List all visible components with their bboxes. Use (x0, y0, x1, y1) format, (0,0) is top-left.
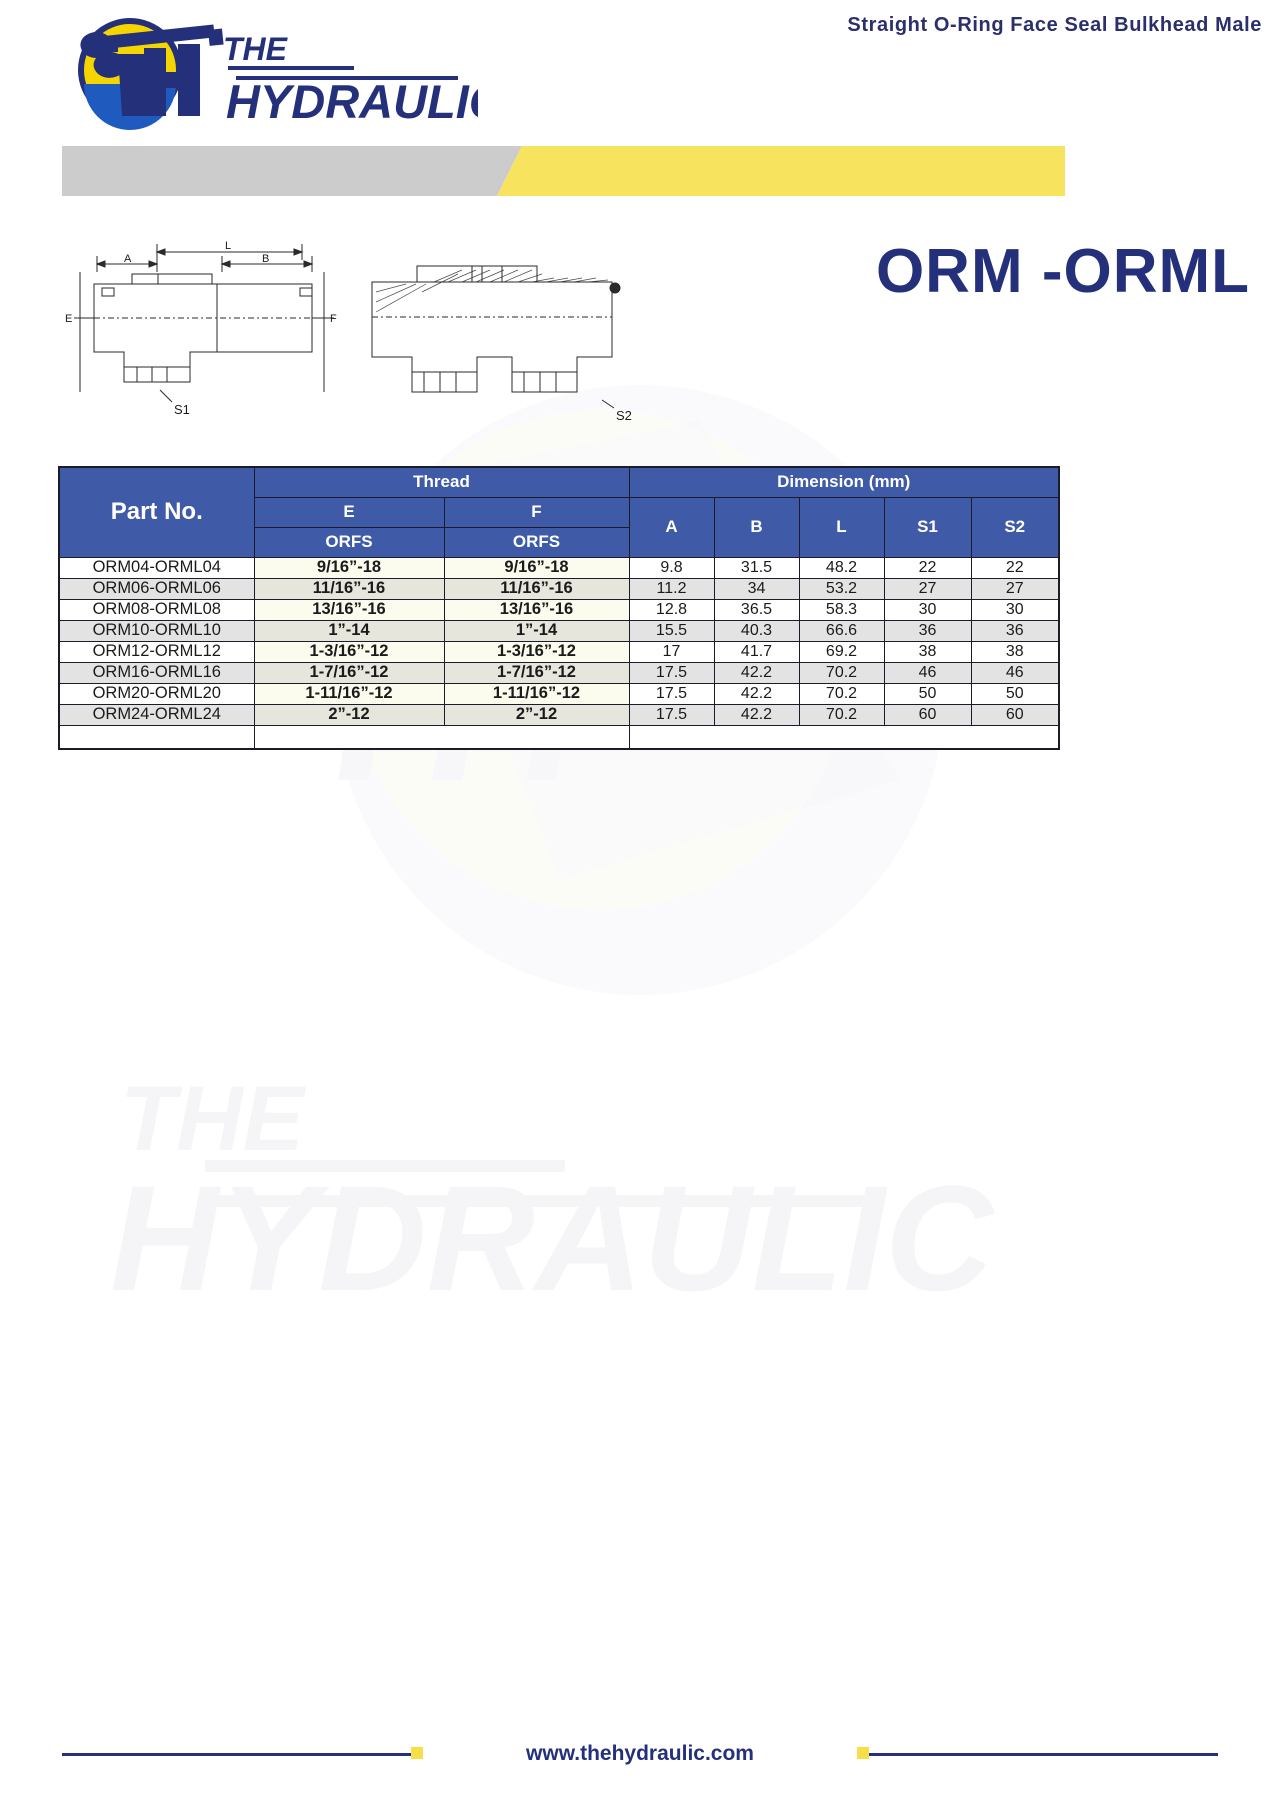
cell-part-no: ORM08-ORML08 (59, 599, 254, 620)
footer-square-left-icon (411, 1747, 423, 1759)
technical-drawings: A L B E F S1 S2 (62, 222, 662, 432)
cell-thread-e: 1-3/16”-12 (254, 641, 444, 662)
cell-dim-a: 9.8 (629, 557, 714, 578)
cell-dim-s1: 30 (884, 599, 971, 620)
cell-dim-l: 48.2 (799, 557, 884, 578)
brand-logo: THE HYDRAULIC (58, 14, 478, 132)
footer-square-right-icon (857, 1747, 869, 1759)
header-thread-f-standard: ORFS (444, 527, 629, 557)
cell-part-no: ORM12-ORML12 (59, 641, 254, 662)
cell-thread-e: 9/16”-18 (254, 557, 444, 578)
cell-dim-a: 17 (629, 641, 714, 662)
cell-dim-s1: 38 (884, 641, 971, 662)
cell-dim-a: 17.5 (629, 704, 714, 725)
cell-thread-e: 1-11/16”-12 (254, 683, 444, 704)
cell-dim-s2: 50 (971, 683, 1059, 704)
table-row: ORM16-ORML161-7/16”-121-7/16”-1217.542.2… (59, 662, 1059, 683)
product-code: ORM -ORML (876, 236, 1250, 307)
footer-website-url[interactable]: www.thehydraulic.com (512, 1742, 768, 1766)
drawing-label-s1: S1 (174, 402, 190, 417)
cell-dim-l: 70.2 (799, 704, 884, 725)
cell-dim-s1: 46 (884, 662, 971, 683)
cell-thread-f: 2”-12 (444, 704, 629, 725)
drawing-label-e: E (65, 313, 72, 325)
cell-dim-s2: 38 (971, 641, 1059, 662)
cell-dim-l: 70.2 (799, 683, 884, 704)
cell-part-no: ORM24-ORML24 (59, 704, 254, 725)
svg-text:THE: THE (120, 1068, 307, 1170)
cell-part-no: ORM16-ORML16 (59, 662, 254, 683)
cell-dim-l: 58.3 (799, 599, 884, 620)
header-dim-a: A (629, 497, 714, 557)
header-thread-e-standard: ORFS (254, 527, 444, 557)
cell-dim-a: 15.5 (629, 620, 714, 641)
cell-dim-l: 53.2 (799, 578, 884, 599)
cell-dim-s1: 36 (884, 620, 971, 641)
header-dim-s1: S1 (884, 497, 971, 557)
cell-dim-l: 69.2 (799, 641, 884, 662)
cell-dim-b: 41.7 (714, 641, 799, 662)
cell-dim-b: 42.2 (714, 704, 799, 725)
cell-dim-s1: 50 (884, 683, 971, 704)
header-thread-f: F (444, 497, 629, 527)
cell-dim-s1: 27 (884, 578, 971, 599)
table-row: ORM10-ORML101”-141”-1415.540.366.63636 (59, 620, 1059, 641)
cell-dim-s1: 22 (884, 557, 971, 578)
cell-thread-e: 2”-12 (254, 704, 444, 725)
svg-text:HYDRAULIC: HYDRAULIC (110, 1154, 996, 1322)
cell-dim-a: 11.2 (629, 578, 714, 599)
cell-thread-f: 9/16”-18 (444, 557, 629, 578)
drawing-label-a: A (124, 253, 132, 265)
table-row: ORM06-ORML0611/16”-1611/16”-1611.23453.2… (59, 578, 1059, 599)
header-dimension-group: Dimension (mm) (629, 467, 1059, 497)
cell-thread-f: 1”-14 (444, 620, 629, 641)
cell-thread-e: 1”-14 (254, 620, 444, 641)
cell-dim-b: 42.2 (714, 683, 799, 704)
table-row: ORM12-ORML121-3/16”-121-3/16”-121741.769… (59, 641, 1059, 662)
header-dim-s2: S2 (971, 497, 1059, 557)
cell-thread-e: 13/16”-16 (254, 599, 444, 620)
header-band (62, 146, 1065, 196)
drawing-label-f: F (330, 313, 337, 325)
cell-dim-s2: 30 (971, 599, 1059, 620)
cell-part-no: ORM10-ORML10 (59, 620, 254, 641)
cell-thread-e: 1-7/16”-12 (254, 662, 444, 683)
cell-dim-s2: 60 (971, 704, 1059, 725)
header-dim-l: L (799, 497, 884, 557)
cell-dim-b: 31.5 (714, 557, 799, 578)
cell-dim-b: 40.3 (714, 620, 799, 641)
cell-part-no: ORM20-ORML20 (59, 683, 254, 704)
footer-rule-left (62, 1753, 417, 1756)
cell-thread-f: 1-7/16”-12 (444, 662, 629, 683)
spacer-cell (629, 725, 1059, 749)
logo-text-the: THE (223, 31, 289, 67)
header-part-no: Part No. (59, 467, 254, 557)
cell-dim-a: 17.5 (629, 662, 714, 683)
logo-text-hydraulic: HYDRAULIC (226, 75, 478, 128)
cell-thread-f: 1-3/16”-12 (444, 641, 629, 662)
header-dim-b: B (714, 497, 799, 557)
cell-dim-s2: 27 (971, 578, 1059, 599)
cell-dim-b: 36.5 (714, 599, 799, 620)
cell-dim-a: 17.5 (629, 683, 714, 704)
cell-dim-b: 34 (714, 578, 799, 599)
spacer-cell (254, 725, 629, 749)
page-title: Straight O-Ring Face Seal Bulkhead Male (847, 0, 1262, 50)
table-spacer-row (59, 725, 1059, 749)
footer-rule-right (863, 1753, 1218, 1756)
table-row: ORM24-ORML242”-122”-1217.542.270.26060 (59, 704, 1059, 725)
footer: www.thehydraulic.com (0, 1734, 1280, 1774)
drawing-label-l: L (225, 240, 231, 252)
cell-thread-f: 11/16”-16 (444, 578, 629, 599)
band-gray (62, 146, 522, 196)
drawing-label-b: B (262, 253, 269, 265)
cell-dim-s1: 60 (884, 704, 971, 725)
drawing-label-s2: S2 (616, 408, 632, 423)
cell-dim-b: 42.2 (714, 662, 799, 683)
cell-part-no: ORM06-ORML06 (59, 578, 254, 599)
table-row: ORM20-ORML201-11/16”-121-11/16”-1217.542… (59, 683, 1059, 704)
specification-table: Part No. Thread Dimension (mm) E F A B L… (58, 466, 1058, 750)
spacer-cell (59, 725, 254, 749)
table-row: ORM08-ORML0813/16”-1613/16”-1612.836.558… (59, 599, 1059, 620)
cell-part-no: ORM04-ORML04 (59, 557, 254, 578)
cell-thread-e: 11/16”-16 (254, 578, 444, 599)
table-row: ORM04-ORML049/16”-189/16”-189.831.548.22… (59, 557, 1059, 578)
band-yellow (497, 146, 1065, 196)
header-thread-group: Thread (254, 467, 629, 497)
cell-thread-f: 13/16”-16 (444, 599, 629, 620)
cell-dim-l: 70.2 (799, 662, 884, 683)
cell-dim-s2: 36 (971, 620, 1059, 641)
cell-dim-s2: 22 (971, 557, 1059, 578)
cell-dim-l: 66.6 (799, 620, 884, 641)
header-thread-e: E (254, 497, 444, 527)
cell-dim-s2: 46 (971, 662, 1059, 683)
cell-thread-f: 1-11/16”-12 (444, 683, 629, 704)
cell-dim-a: 12.8 (629, 599, 714, 620)
